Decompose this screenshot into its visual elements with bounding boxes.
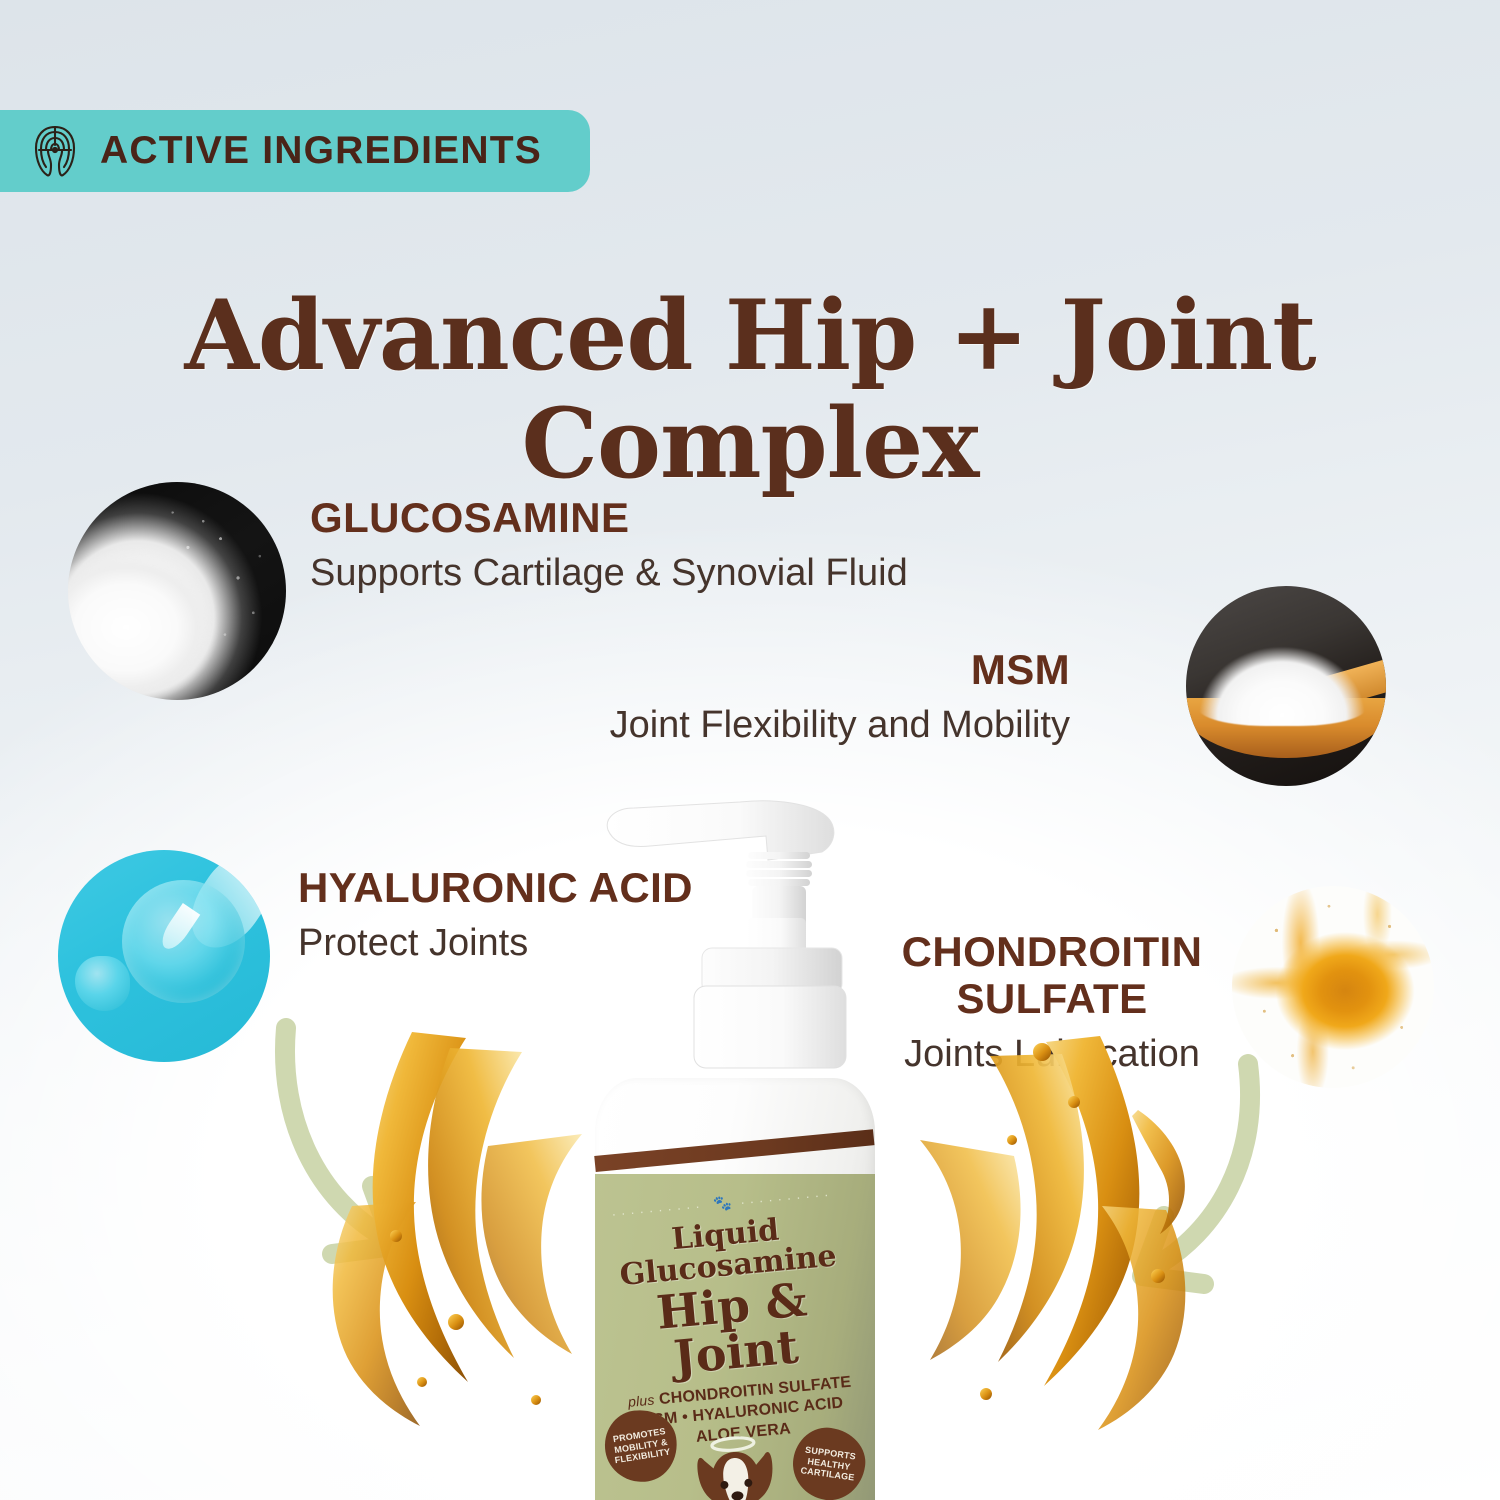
ingredient-name-line-1: CHONDROITIN	[862, 928, 1242, 975]
pump-dispenser	[590, 790, 890, 1090]
ingredient-name: MSM	[610, 646, 1070, 693]
ingredient-desc: Supports Cartilage & Synovial Fluid	[310, 551, 908, 597]
gel-blob-large	[122, 880, 245, 1003]
bottle-label: ·········· 🐾 ·········· Liquid Glucosami…	[595, 1174, 875, 1500]
pump-threads	[746, 852, 812, 886]
oil-right-ribbon	[920, 1036, 1185, 1430]
joint-cartilage-icon	[32, 123, 78, 179]
bottle-brown-band	[594, 1129, 874, 1172]
active-ingredients-badge: ACTIVE INGREDIENTS	[0, 110, 590, 192]
label-plus-prefix: plus	[627, 1392, 655, 1410]
dog-with-halo-icon	[678, 1423, 793, 1500]
infographic-canvas: ACTIVE INGREDIENTS Advanced Hip + Joint …	[0, 0, 1500, 1500]
ingredient-desc: Joint Flexibility and Mobility	[610, 703, 1070, 749]
active-ingredients-label: ACTIVE INGREDIENTS	[100, 129, 542, 173]
pump-cap	[694, 986, 846, 1068]
oil-left-ribbon	[333, 1032, 582, 1426]
glucosamine-image	[68, 482, 286, 700]
page-title: Advanced Hip + Joint Complex	[0, 282, 1500, 497]
product-bottle: ·········· 🐾 ·········· Liquid Glucosami…	[595, 1078, 875, 1500]
ingredient-glucosamine: GLUCOSAMINE Supports Cartilage & Synovia…	[310, 494, 908, 597]
pump-nozzle	[607, 801, 834, 860]
ingredient-name: GLUCOSAMINE	[310, 494, 908, 541]
headline-line-1: Advanced Hip + Joint	[184, 279, 1315, 392]
msm-image	[1186, 586, 1386, 786]
gel-blob-small	[75, 956, 130, 1011]
hyaluronic-acid-image	[58, 850, 270, 1062]
powder-mound	[1198, 638, 1366, 726]
ingredient-msm: MSM Joint Flexibility and Mobility	[610, 646, 1070, 749]
paw-print-icon: 🐾	[712, 1195, 732, 1214]
